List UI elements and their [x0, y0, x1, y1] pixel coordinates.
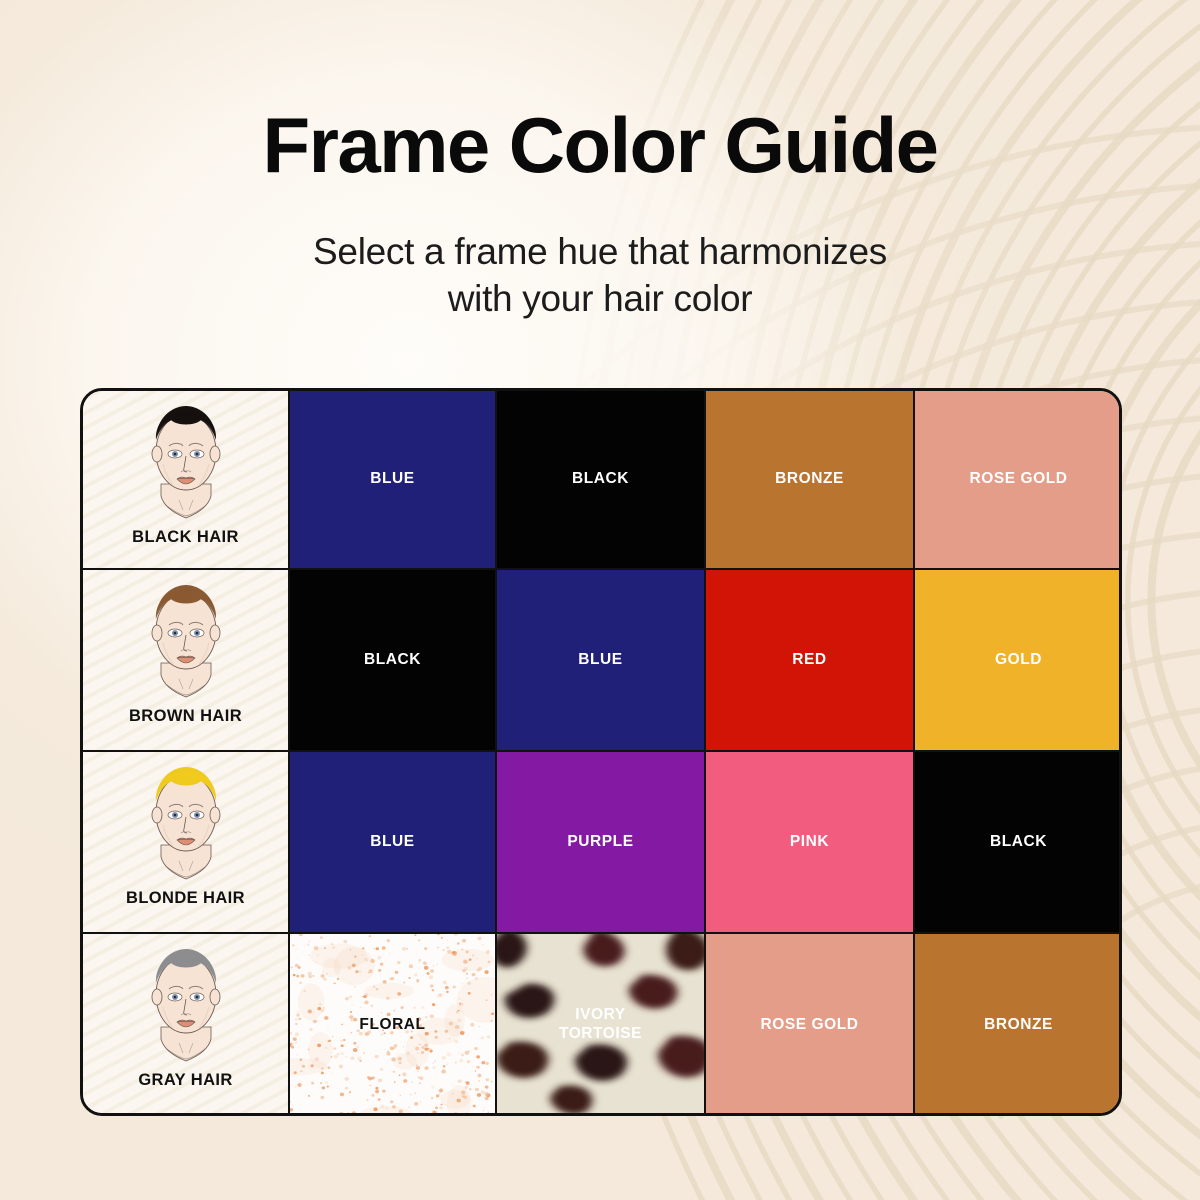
frame-color-swatch[interactable]: BRONZE [706, 391, 915, 570]
hair-type-label: GRAY HAIR [138, 1071, 232, 1090]
hair-type-cell: BROWN HAIR [83, 570, 290, 752]
hair-type-cell: GRAY HAIR [83, 934, 290, 1116]
frame-color-label: ROSE GOLD [970, 470, 1068, 489]
frame-color-label: BLACK [572, 470, 629, 489]
hair-type-label: BROWN HAIR [129, 707, 242, 726]
frame-color-label: ROSE GOLD [761, 1016, 859, 1035]
frame-color-label: RED [792, 651, 826, 670]
frame-color-swatch[interactable]: BLUE [290, 391, 497, 570]
frame-color-label: BLACK [990, 833, 1047, 852]
frame-color-swatch[interactable]: BLUE [497, 570, 706, 752]
face-illustration-svg [111, 943, 261, 1067]
frame-color-label: BLUE [370, 833, 414, 852]
frame-color-swatch[interactable]: ROSE GOLD [915, 391, 1122, 570]
frame-color-swatch[interactable]: PURPLE [497, 752, 706, 934]
face-illustration-svg [111, 579, 261, 703]
frame-color-grid: BLACK HAIRBLUEBLACKBRONZEROSE GOLD [80, 388, 1122, 1116]
frame-color-label: IVORY TORTOISE [559, 1006, 642, 1044]
face-illustration [111, 400, 261, 524]
hair-type-label: BLONDE HAIR [126, 889, 245, 908]
frame-color-label: BLACK [364, 651, 421, 670]
subtitle-line-1: Select a frame hue that harmonizes [0, 228, 1200, 275]
frame-color-swatch[interactable]: RED [706, 570, 915, 752]
frame-color-label: GOLD [995, 651, 1042, 670]
frame-color-swatch[interactable]: BLUE [290, 752, 497, 934]
hair-type-cell: BLONDE HAIR [83, 752, 290, 934]
face-illustration [111, 761, 261, 885]
frame-color-swatch[interactable]: IVORY TORTOISE [497, 934, 706, 1116]
frame-color-swatch[interactable]: BRONZE [915, 934, 1122, 1116]
frame-color-swatch[interactable]: BLACK [290, 570, 497, 752]
face-illustration [111, 943, 261, 1067]
frame-color-swatch[interactable]: BLACK [497, 391, 706, 570]
frame-color-label: BLUE [578, 651, 622, 670]
frame-color-label: PURPLE [567, 833, 633, 852]
frame-color-swatch[interactable]: GOLD [915, 570, 1122, 752]
hair-type-label: BLACK HAIR [132, 528, 239, 547]
frame-color-label: BRONZE [775, 470, 844, 489]
face-illustration [111, 579, 261, 703]
subtitle-line-2: with your hair color [0, 275, 1200, 322]
frame-color-swatch[interactable]: BLACK [915, 752, 1122, 934]
face-illustration-svg [111, 400, 261, 524]
frame-color-swatch[interactable]: FLORAL [290, 934, 497, 1116]
hair-type-cell: BLACK HAIR [83, 391, 290, 570]
face-illustration-svg [111, 761, 261, 885]
page-root: Frame Color Guide Select a frame hue tha… [0, 0, 1200, 1200]
frame-color-label: BRONZE [984, 1016, 1053, 1035]
frame-color-label: FLORAL [359, 1016, 425, 1035]
frame-color-swatch[interactable]: ROSE GOLD [706, 934, 915, 1116]
frame-color-swatch[interactable]: PINK [706, 752, 915, 934]
frame-color-label: BLUE [370, 470, 414, 489]
frame-color-label: PINK [790, 833, 829, 852]
page-title: Frame Color Guide [0, 105, 1200, 186]
page-subtitle: Select a frame hue that harmonizes with … [0, 228, 1200, 323]
